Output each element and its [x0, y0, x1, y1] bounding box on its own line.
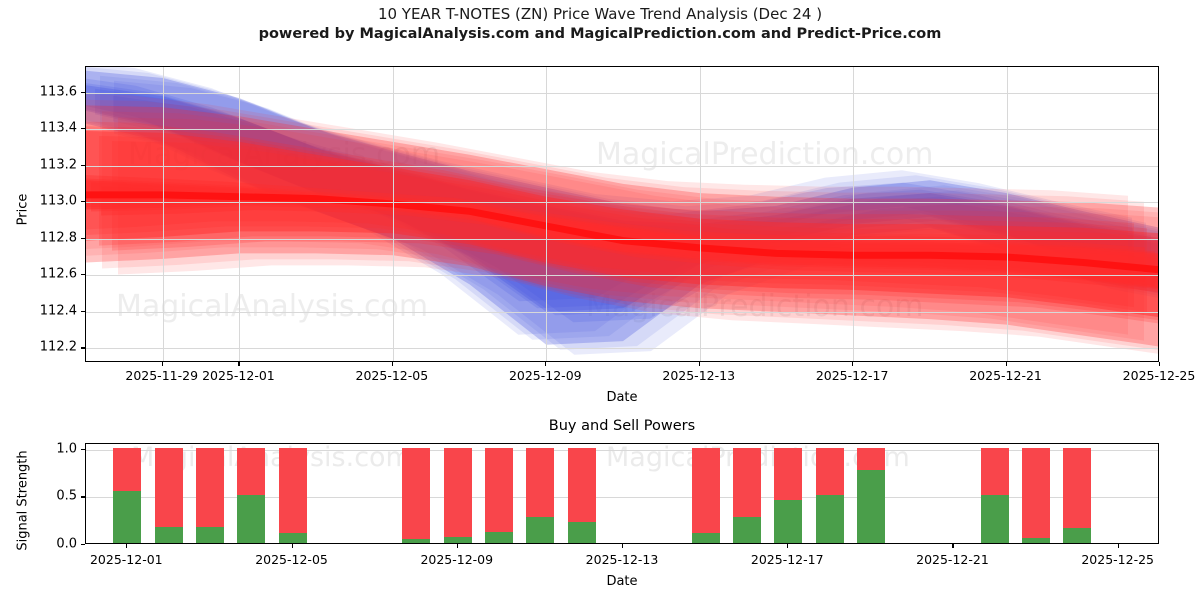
sell-power-segment — [196, 448, 224, 527]
buy-power-segment — [733, 517, 761, 543]
price-xtick-label: 2025-12-21 — [969, 368, 1042, 383]
price-xtick-mark — [238, 362, 239, 366]
signal-bar[interactable] — [733, 448, 761, 543]
price-ytick-mark — [81, 92, 85, 93]
signal-xtick-label: 2025-12-21 — [916, 552, 989, 567]
price-xtick-label: 2025-12-17 — [816, 368, 889, 383]
price-ytick-label: 113.2 — [40, 157, 77, 172]
price-gridline — [86, 129, 1158, 130]
sell-power-segment — [774, 448, 802, 500]
price-xtick-label: 2025-12-09 — [509, 368, 582, 383]
buy-power-segment — [485, 532, 513, 543]
title-block: 10 YEAR T-NOTES (ZN) Price Wave Trend An… — [0, 4, 1200, 44]
price-xtick-mark — [1159, 362, 1160, 366]
page-subtitle: powered by MagicalAnalysis.com and Magic… — [0, 24, 1200, 44]
price-xtick-mark — [852, 362, 853, 366]
sell-power-segment — [113, 448, 141, 491]
signal-bar[interactable] — [526, 448, 554, 543]
buy-power-segment — [857, 470, 885, 543]
signal-strength-axis-title: Signal Strength — [16, 436, 31, 566]
price-ytick-mark — [81, 311, 85, 312]
buy-power-segment — [774, 500, 802, 543]
buy-power-segment — [526, 517, 554, 543]
signal-xtick-mark — [1118, 544, 1119, 548]
buy-power-segment — [155, 527, 183, 543]
signal-ytick-label: 0.0 — [56, 537, 77, 552]
signal-xtick-mark — [457, 544, 458, 548]
price-ytick-mark — [81, 128, 85, 129]
buy-power-segment — [444, 537, 472, 543]
signal-bar[interactable] — [1063, 448, 1091, 543]
signal-xtick-mark — [292, 544, 293, 548]
price-ytick-label: 113.6 — [40, 84, 77, 99]
price-axis-title: Price — [16, 175, 31, 245]
buy-sell-title: Buy and Sell Powers — [85, 418, 1159, 434]
signal-bar[interactable] — [279, 448, 307, 543]
signal-ytick-label: 1.0 — [56, 441, 77, 456]
price-ytick-label: 112.6 — [40, 267, 77, 282]
price-ytick-label: 113.4 — [40, 121, 77, 136]
buy-power-segment — [402, 539, 430, 543]
price-gridline — [86, 348, 1158, 349]
price-ytick-mark — [81, 347, 85, 348]
sell-power-segment — [1063, 448, 1091, 528]
sell-power-segment — [1022, 448, 1050, 539]
price-ytick-label: 113.0 — [40, 194, 77, 209]
price-gridline — [86, 93, 1158, 94]
buy-sell-powers-chart: MagicalAnalysis.com MagicalPrediction.co… — [85, 443, 1159, 544]
price-xtick-label: 2025-12-13 — [662, 368, 735, 383]
price-gridline — [86, 312, 1158, 313]
buy-power-segment — [196, 527, 224, 543]
signal-bar[interactable] — [155, 448, 183, 543]
sell-power-segment — [402, 448, 430, 539]
buy-power-segment — [237, 495, 265, 543]
price-gridline-vertical — [853, 67, 854, 361]
signal-bar[interactable] — [692, 448, 720, 543]
sell-power-segment — [279, 448, 307, 533]
price-ytick-label: 112.8 — [40, 230, 77, 245]
signal-ytick-label: 0.5 — [56, 489, 77, 504]
price-gridline-vertical — [393, 67, 394, 361]
signal-xtick-mark — [787, 544, 788, 548]
sell-power-segment — [485, 448, 513, 532]
price-gridline — [86, 239, 1158, 240]
price-gridline-vertical — [546, 67, 547, 361]
signal-ytick-mark — [81, 496, 85, 497]
price-gridline-vertical — [1007, 67, 1008, 361]
buy-power-segment — [113, 491, 141, 543]
price-ytick-mark — [81, 201, 85, 202]
price-gridline — [86, 275, 1158, 276]
buy-power-segment — [568, 522, 596, 543]
signal-xtick-mark — [952, 544, 953, 548]
signal-bar[interactable] — [402, 448, 430, 543]
price-xtick-label: 2025-12-25 — [1123, 368, 1196, 383]
signal-bar[interactable] — [568, 448, 596, 543]
sell-power-segment — [444, 448, 472, 538]
signal-xtick-mark — [622, 544, 623, 548]
signal-ytick-mark — [81, 544, 85, 545]
buy-power-segment — [1063, 528, 1091, 543]
signal-bar[interactable] — [485, 448, 513, 543]
price-xtick-label: 2025-11-29 — [125, 368, 198, 383]
signal-bar[interactable] — [774, 448, 802, 543]
sell-power-segment — [733, 448, 761, 518]
sell-power-segment — [857, 448, 885, 470]
price-chart-xaxis-title: Date — [85, 390, 1159, 405]
price-ytick-mark — [81, 274, 85, 275]
signal-bar[interactable] — [444, 448, 472, 543]
signal-bar[interactable] — [857, 448, 885, 543]
signal-bar[interactable] — [1022, 448, 1050, 543]
signal-xtick-label: 2025-12-17 — [751, 552, 824, 567]
buy-power-segment — [692, 533, 720, 543]
signal-xtick-label: 2025-12-05 — [255, 552, 328, 567]
price-xtick-mark — [162, 362, 163, 366]
price-wave-plot-area: MagicalAnalysis.com MagicalPrediction.co… — [86, 67, 1158, 361]
buy-power-segment — [279, 533, 307, 543]
signal-bar[interactable] — [113, 448, 141, 543]
signal-ytick-mark — [81, 449, 85, 450]
signal-bar[interactable] — [196, 448, 224, 543]
price-ytick-mark — [81, 165, 85, 166]
chart-page: 10 YEAR T-NOTES (ZN) Price Wave Trend An… — [0, 0, 1200, 600]
price-gridline-vertical — [239, 67, 240, 361]
sell-power-segment — [816, 448, 844, 496]
sell-power-segment — [237, 448, 265, 496]
signal-xtick-label: 2025-12-01 — [90, 552, 163, 567]
price-gridline-vertical — [163, 67, 164, 361]
sell-power-segment — [155, 448, 183, 527]
page-title: 10 YEAR T-NOTES (ZN) Price Wave Trend An… — [0, 4, 1200, 24]
signal-bar[interactable] — [237, 448, 265, 543]
buy-sell-plot-area: MagicalAnalysis.com MagicalPrediction.co… — [86, 444, 1158, 543]
price-ytick-label: 112.4 — [40, 303, 77, 318]
sell-power-segment — [981, 448, 1009, 496]
price-xtick-mark — [392, 362, 393, 366]
price-xtick-mark — [545, 362, 546, 366]
price-gridline — [86, 166, 1158, 167]
signal-xtick-label: 2025-12-09 — [420, 552, 493, 567]
buy-power-segment — [981, 495, 1009, 543]
signal-xtick-label: 2025-12-25 — [1081, 552, 1154, 567]
signal-xtick-mark — [126, 544, 127, 548]
price-xtick-label: 2025-12-05 — [356, 368, 429, 383]
sell-power-segment — [692, 448, 720, 533]
wave-bands — [86, 67, 1158, 361]
price-wave-chart: MagicalAnalysis.com MagicalPrediction.co… — [85, 66, 1159, 362]
signal-xtick-label: 2025-12-13 — [586, 552, 659, 567]
signal-bar[interactable] — [981, 448, 1009, 543]
price-xtick-mark — [699, 362, 700, 366]
price-xtick-mark — [1006, 362, 1007, 366]
sell-power-segment — [568, 448, 596, 522]
signal-bar[interactable] — [816, 448, 844, 543]
price-ytick-mark — [81, 238, 85, 239]
price-xtick-label: 2025-12-01 — [202, 368, 275, 383]
buy-power-segment — [816, 495, 844, 543]
buy-sell-xaxis-title: Date — [85, 574, 1159, 589]
price-gridline-vertical — [700, 67, 701, 361]
buy-power-segment — [1022, 538, 1050, 543]
sell-power-segment — [526, 448, 554, 518]
price-gridline — [86, 202, 1158, 203]
price-ytick-label: 112.2 — [40, 340, 77, 355]
